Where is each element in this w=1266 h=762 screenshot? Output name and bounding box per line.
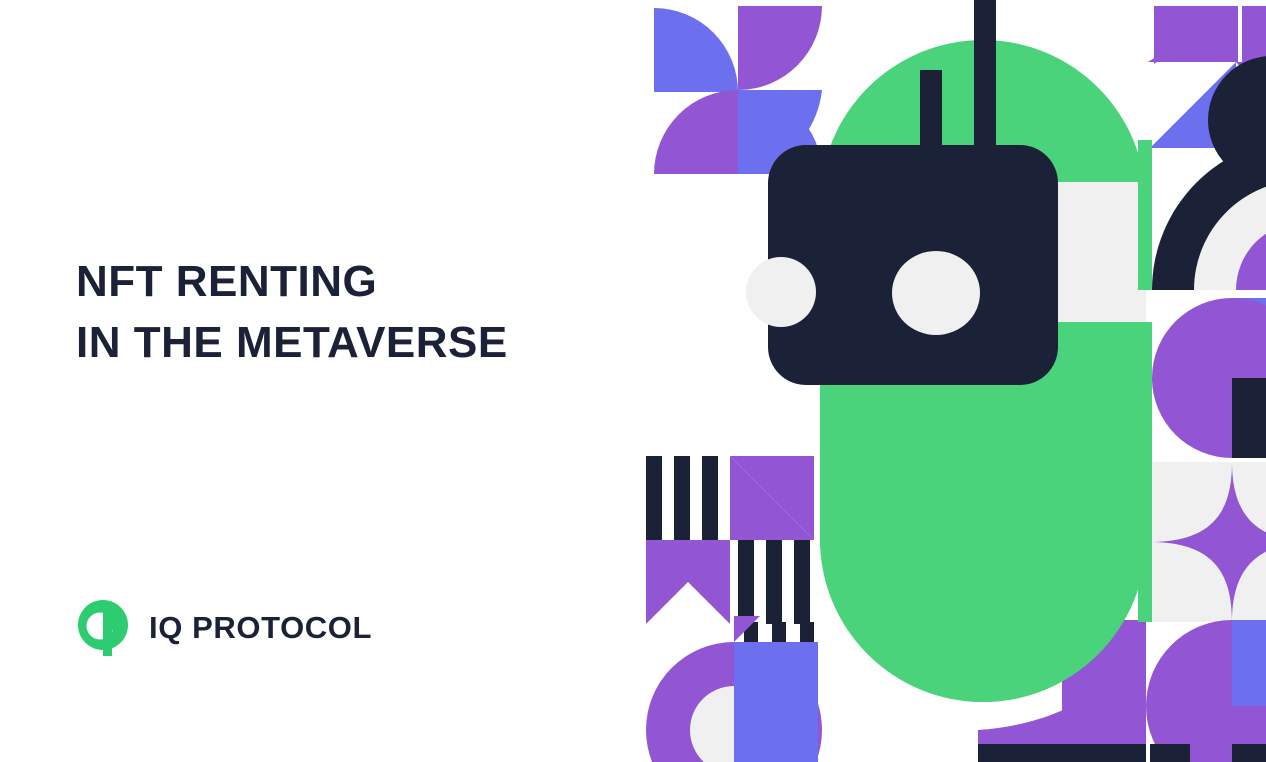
brand-lockup: IQ PROTOCOL <box>78 600 372 656</box>
page-title: NFT RENTINGIN THE METAVERSE <box>76 252 508 373</box>
geometric-robot-illustration <box>638 0 1266 762</box>
headline-line-1: NFT RENTING <box>76 257 377 306</box>
bottom-navy-bar <box>978 744 1146 762</box>
artwork-panel <box>638 0 1266 762</box>
headline-line-2: IN THE METAVERSE <box>76 313 508 374</box>
iq-protocol-logo-icon <box>78 600 128 656</box>
green-edge-sliver <box>1138 140 1152 290</box>
green-edge-sliver-2 <box>1138 322 1152 622</box>
left-content-panel: NFT RENTINGIN THE METAVERSE IQ PROTOCOL <box>0 0 638 762</box>
tile-four-point-star <box>1150 462 1266 622</box>
slide-canvas: NFT RENTINGIN THE METAVERSE IQ PROTOCOL <box>0 0 1266 762</box>
brand-name: IQ PROTOCOL <box>149 610 372 646</box>
